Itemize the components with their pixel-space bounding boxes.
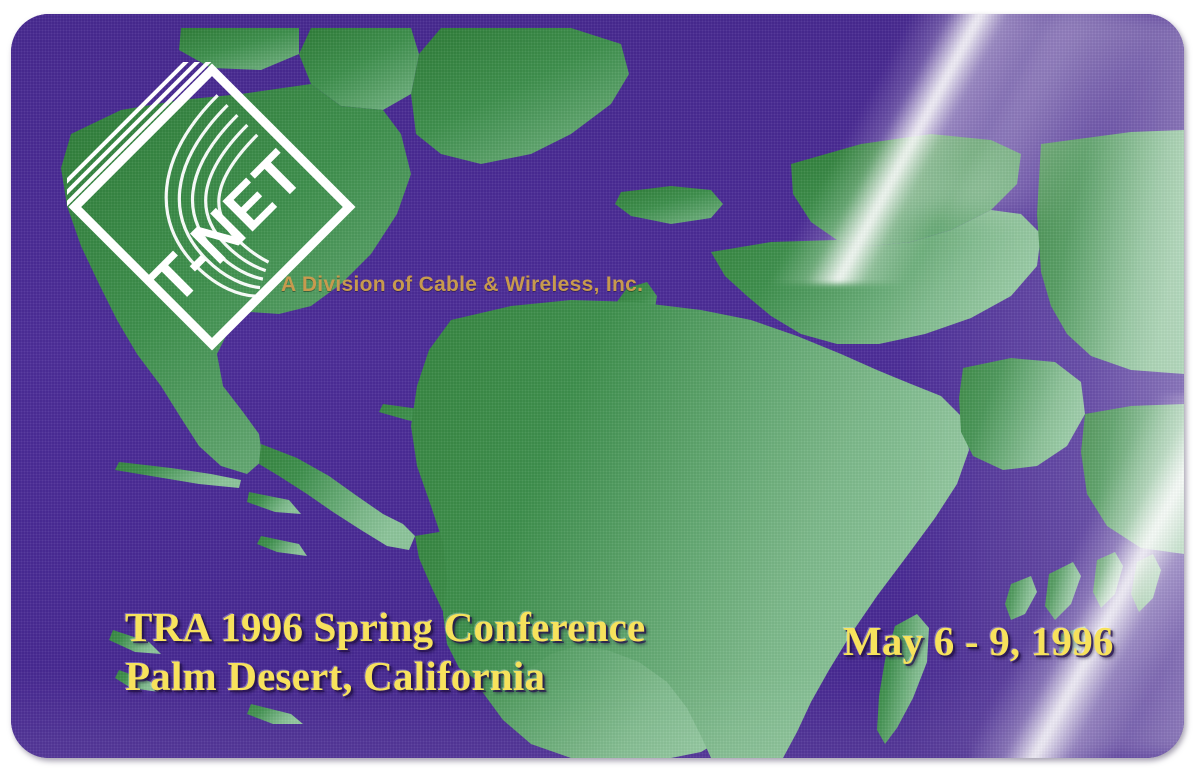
event-location: Palm Desert, California [125, 652, 645, 700]
phone-card: T-NET A Division of Cable & Wireless, In… [11, 14, 1184, 758]
event-legend: TRA 1996 Spring Conference Palm Desert, … [125, 603, 645, 700]
screenshot-canvas: T-NET A Division of Cable & Wireless, In… [0, 0, 1200, 775]
land-greenland [411, 28, 629, 164]
land-arabia [959, 358, 1085, 470]
land-island-io-3 [1131, 554, 1161, 612]
land-iceland [615, 186, 723, 224]
land-island-azores [247, 492, 301, 514]
event-title: TRA 1996 Spring Conference [125, 603, 645, 651]
land-island-canary [257, 536, 307, 556]
land-island-io-2 [1093, 552, 1123, 608]
logo-rule-1 [67, 62, 212, 207]
land-island-io-4 [1005, 576, 1037, 620]
land-asia [1037, 130, 1184, 374]
event-dates: May 6 - 9, 1996 [843, 617, 1114, 665]
land-island-sa-3 [247, 704, 303, 724]
land-island-io-1 [1045, 562, 1081, 620]
t-net-logo: T-NET [67, 62, 357, 352]
land-asia-south [1081, 404, 1184, 554]
land-central-america [259, 444, 415, 550]
tagline: A Division of Cable & Wireless, Inc. [281, 273, 643, 297]
t-net-diamond-logo-icon: T-NET [67, 62, 357, 352]
